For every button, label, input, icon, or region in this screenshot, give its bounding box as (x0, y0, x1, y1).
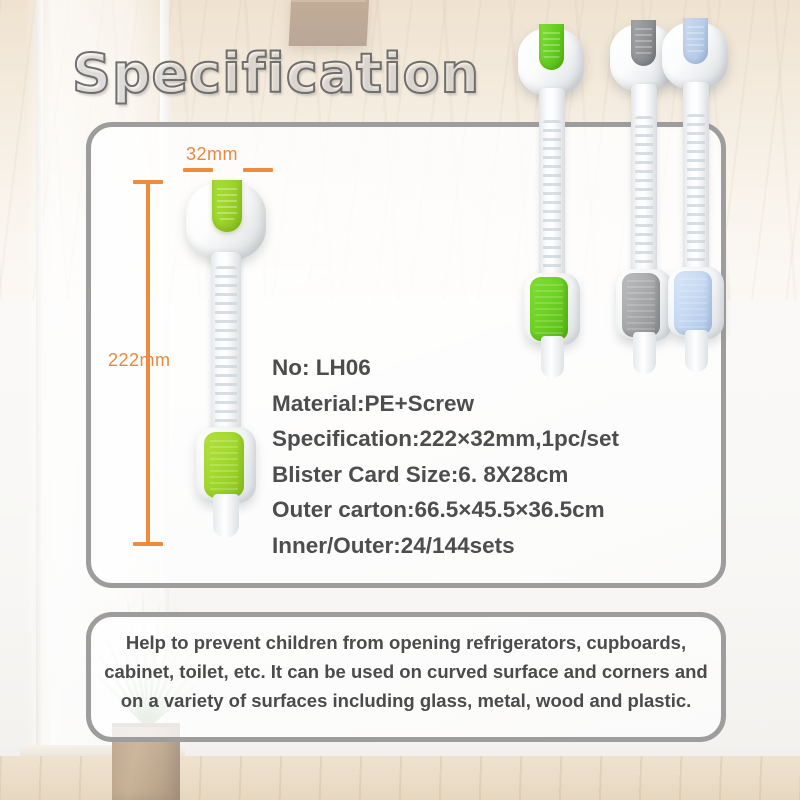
variant-head-housing (518, 28, 584, 96)
specification-text-list: No: LH06 Material:PE+Screw Specification… (272, 350, 702, 563)
variant-head-housing (662, 22, 728, 90)
variant-strap (683, 82, 709, 277)
description-text: Help to prevent children from opening re… (104, 628, 708, 715)
spec-line-blister: Blister Card Size:6. 8X28cm (272, 457, 702, 493)
product-variant-green (512, 28, 590, 378)
variant-release-button (539, 24, 564, 70)
variant-release-button (683, 18, 708, 64)
page-title: Specification (72, 42, 480, 105)
product-strap-tail (213, 494, 239, 538)
width-dimension-tick-left (183, 168, 213, 172)
width-dimension-label: 32mm (186, 144, 238, 165)
height-dimension-label: 222mm (108, 350, 171, 371)
variant-strap-tail (685, 330, 708, 372)
variant-latch-housing (668, 267, 724, 339)
spec-line-carton: Outer carton:66.5×45.5×36.5cm (272, 492, 702, 528)
spec-line-size: Specification:222×32mm,1pc/set (272, 421, 702, 457)
product-head-housing (186, 182, 266, 260)
variant-strap (539, 88, 565, 283)
variant-release-button (631, 20, 656, 66)
product-variant-lightblue (656, 22, 734, 372)
variant-latch-pad (622, 273, 660, 337)
product-latch-housing (196, 427, 256, 503)
variant-latch-pad (530, 277, 568, 341)
product-latch-pad (204, 432, 244, 498)
width-dimension-tick-right (243, 168, 273, 172)
variant-latch-housing (524, 273, 580, 345)
product-release-button (212, 180, 242, 232)
specification-infographic: Specification 32mm 222mm No: LH06 Materi… (0, 0, 800, 800)
product-strap (211, 252, 241, 432)
variant-latch-pad (674, 271, 712, 335)
spec-line-innerouter: Inner/Outer:24/144sets (272, 528, 702, 564)
spec-line-material: Material:PE+Screw (272, 386, 702, 422)
variant-strap (631, 84, 657, 279)
variant-strap-tail (633, 332, 656, 374)
height-dimension-cap-bottom (133, 542, 163, 546)
product-image-main (178, 182, 278, 552)
variant-strap-tail (541, 336, 564, 378)
